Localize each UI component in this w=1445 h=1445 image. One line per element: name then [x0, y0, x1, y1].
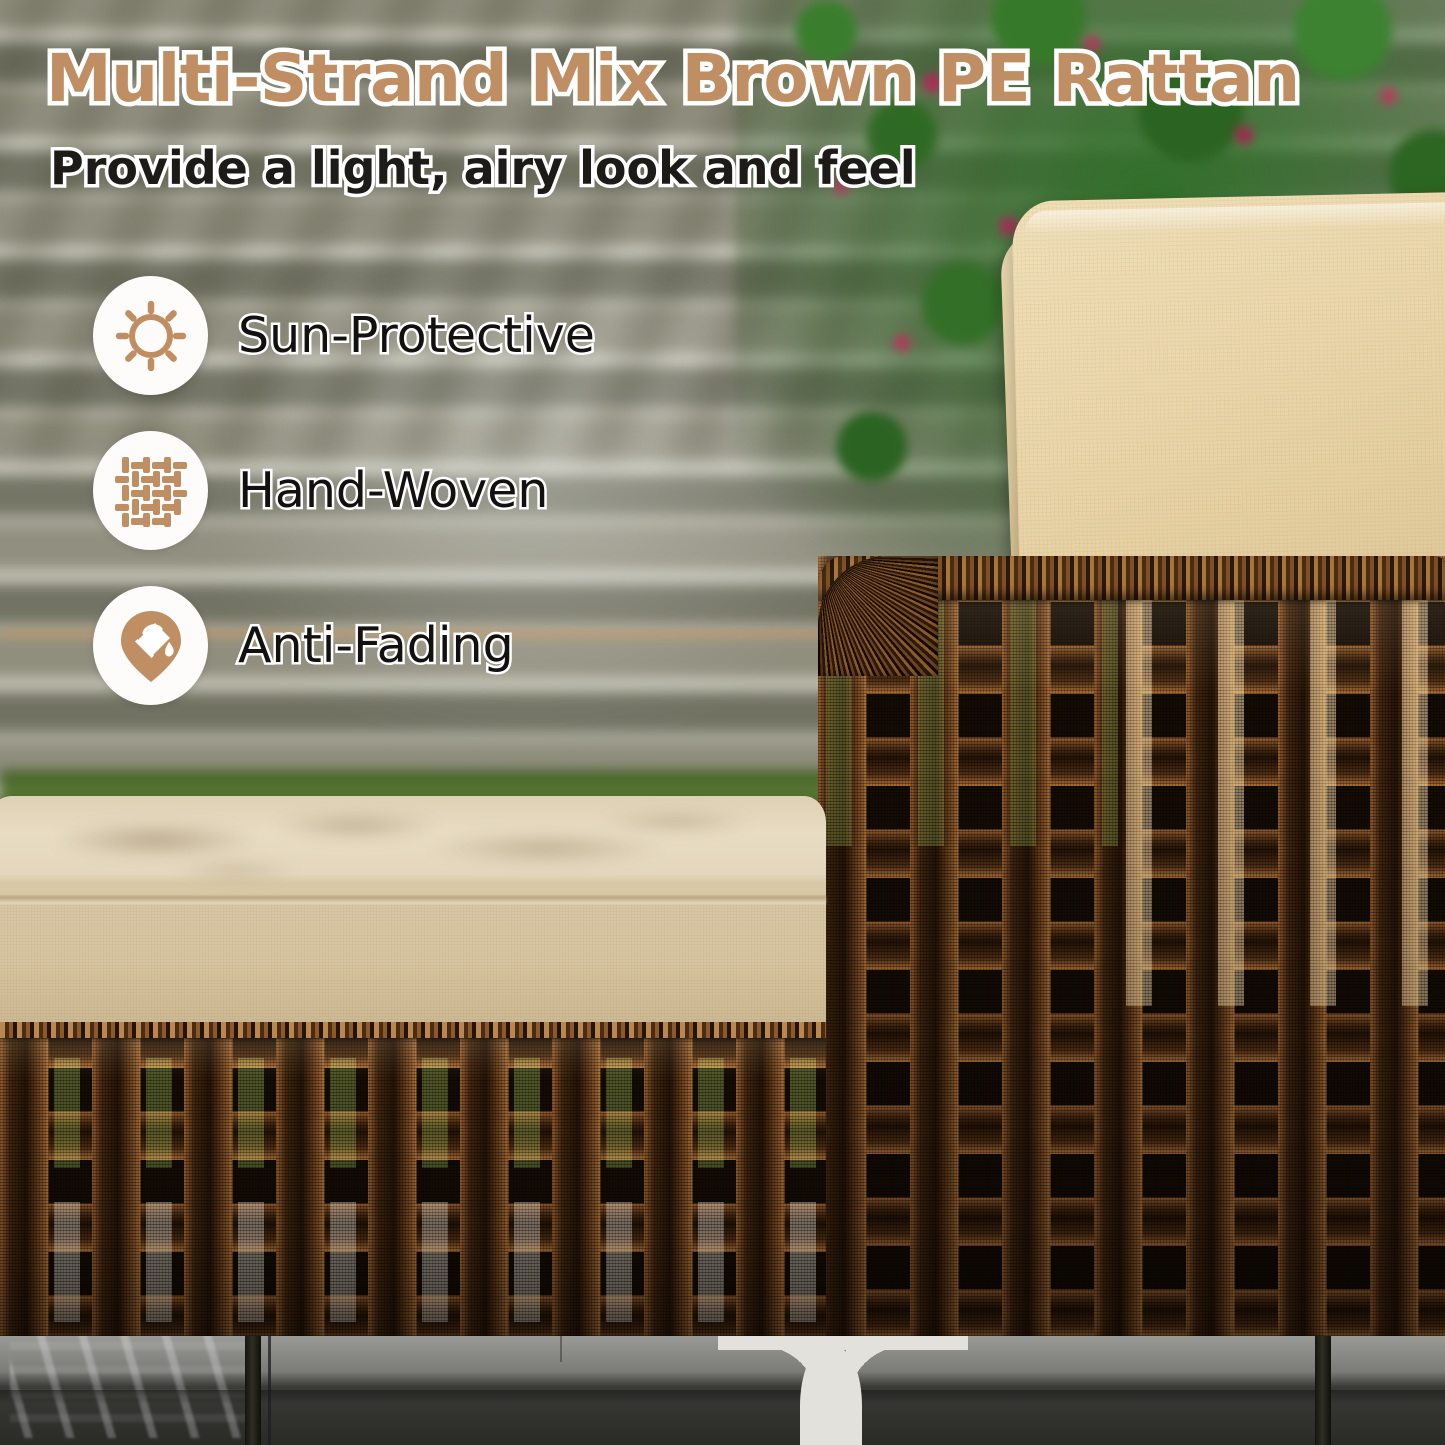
feature-label: Sun-Protective	[238, 307, 595, 365]
weave-icon	[115, 455, 187, 527]
rattan-seat-frame-top-trim	[0, 1022, 826, 1038]
seat-cushion-fabric-texture	[0, 904, 826, 1032]
paint-drop-pin-icon	[113, 608, 189, 684]
rattan-seat-frame-shading	[0, 1022, 826, 1336]
page-subtitle: Provide a light, airy look and feel	[50, 140, 1150, 196]
seat-cushion-crease	[0, 896, 826, 904]
white-furniture-leg-stem	[800, 1348, 862, 1445]
floor-shadow-band	[0, 1390, 1445, 1404]
sun-icon	[115, 300, 187, 372]
feature-item-anti-fading: Anti-Fading	[93, 586, 793, 705]
feature-list: Sun-Protective	[93, 276, 793, 741]
seat-cushion-leaf-shadows	[0, 796, 826, 900]
page-title: Multi-Strand Mix Brown PE Rattan	[46, 40, 1426, 118]
feature-item-hand-woven: Hand-Woven	[93, 431, 793, 550]
product-marketing-image: Multi-Strand Mix Brown PE Rattan Provide…	[0, 0, 1445, 1445]
feature-badge-circle	[93, 586, 208, 705]
feature-badge-circle	[93, 276, 208, 395]
feature-label: Anti-Fading	[238, 617, 514, 675]
feature-label: Hand-Woven	[238, 462, 549, 520]
rattan-seat-frame	[0, 1022, 826, 1336]
rattan-arm-panel	[818, 556, 1445, 1336]
feature-item-sun-protective: Sun-Protective	[93, 276, 793, 395]
floor-dappled-light	[10, 1318, 250, 1438]
feature-badge-circle	[93, 431, 208, 550]
